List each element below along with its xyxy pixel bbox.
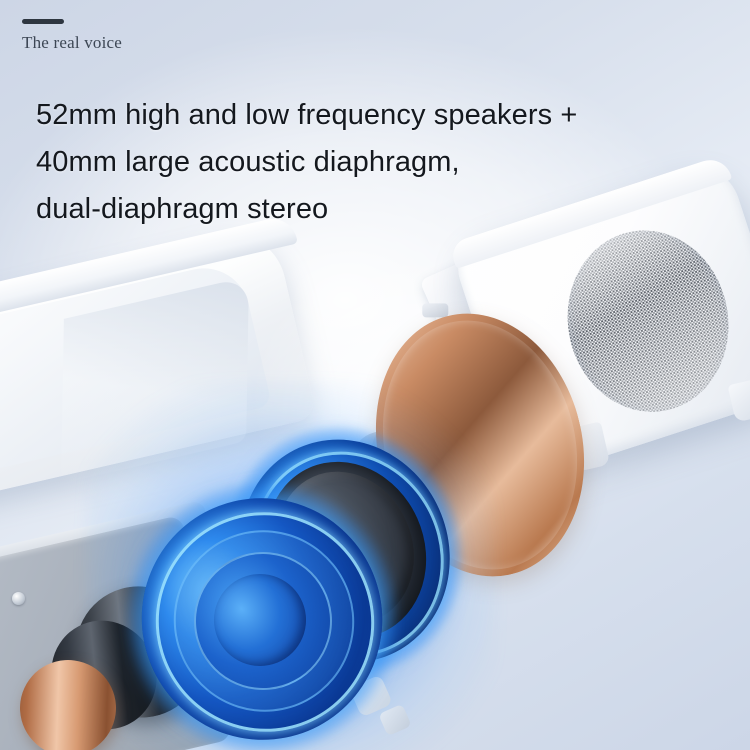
product-feature-banner: The real voice 52mm high and low frequen… [0,0,750,750]
eyebrow-dash [22,19,64,24]
shell-tab-right [728,379,750,423]
speaker-driver-group [118,408,458,748]
eyebrow-label: The real voice [22,33,122,53]
screw-icon [12,592,25,605]
page-title: 52mm high and low frequency speakers + 4… [36,92,656,233]
shell-bracket-tip [422,303,448,317]
